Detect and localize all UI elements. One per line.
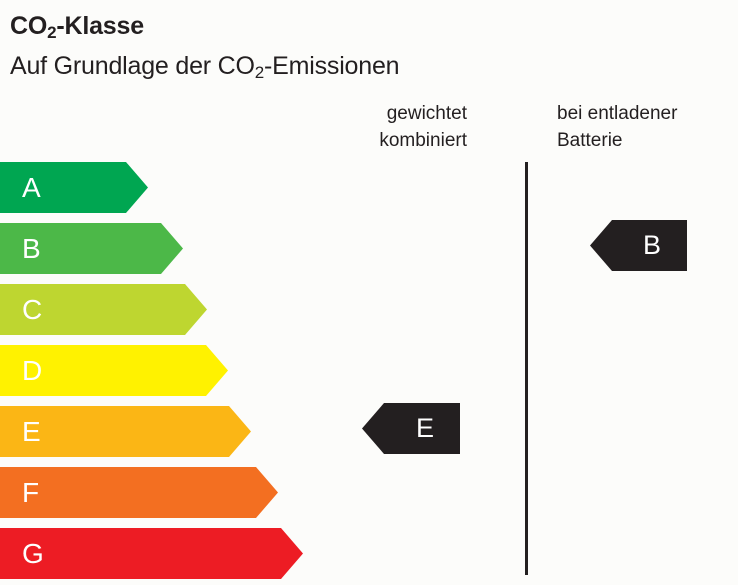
title-text-prefix: CO: [10, 12, 47, 40]
scale-bar-e: E: [0, 406, 251, 457]
scale-bar-f: F: [0, 467, 278, 518]
scale-bar-label-g: G: [22, 540, 44, 568]
column-header-depleted-battery: bei entladener Batterie: [557, 100, 677, 154]
scale-bar-b: B: [0, 223, 183, 274]
subtitle-text-suffix: -Emissionen: [264, 52, 399, 80]
class-marker-label-weighted-combined: E: [416, 415, 434, 442]
title-subscript: 2: [47, 23, 56, 42]
co2-class-chart: CO2-Klasse Auf Grundlage der CO2-Emissio…: [0, 0, 738, 585]
class-marker-depleted-battery: B: [590, 220, 687, 271]
column-header-depleted-battery-line2: Batterie: [557, 127, 677, 154]
column-header-weighted-combined-line1: gewichtet: [379, 100, 467, 127]
column-header-depleted-battery-line1: bei entladener: [557, 100, 677, 127]
scale-bar-a: A: [0, 162, 148, 213]
subtitle-text-prefix: Auf Grundlage der CO: [10, 52, 255, 80]
column-divider: [525, 162, 528, 575]
scale-bar-label-e: E: [22, 418, 41, 446]
page-subtitle: Auf Grundlage der CO2-Emissionen: [10, 52, 399, 81]
scale-bar-g: G: [0, 528, 303, 579]
column-header-weighted-combined: gewichtet kombiniert: [379, 100, 467, 154]
scale-bar-shape-g: [0, 528, 303, 579]
scale-bar-c: C: [0, 284, 207, 335]
page-title: CO2-Klasse: [10, 12, 144, 41]
scale-bar-label-c: C: [22, 296, 42, 324]
scale-bar-label-d: D: [22, 357, 42, 385]
class-marker-label-depleted-battery: B: [643, 232, 661, 259]
column-header-weighted-combined-line2: kombiniert: [379, 127, 467, 154]
scale-bar-label-b: B: [22, 235, 41, 263]
subtitle-subscript: 2: [255, 63, 264, 82]
title-text-suffix: -Klasse: [56, 12, 144, 40]
class-marker-weighted-combined: E: [362, 403, 460, 454]
scale-bar-label-f: F: [22, 479, 39, 507]
scale-bar-shape-f: [0, 467, 278, 518]
scale-bar-label-a: A: [22, 174, 41, 202]
scale-bar-d: D: [0, 345, 228, 396]
